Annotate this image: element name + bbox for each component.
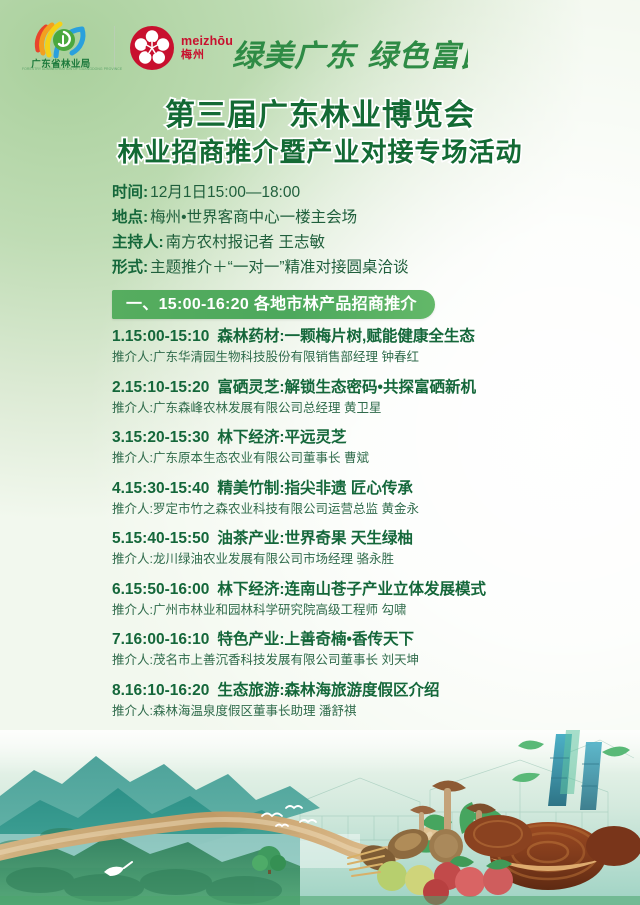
slogan-text: 绿美广东 绿色富民 — [232, 39, 468, 74]
poster-root: 广东省林业局 FORESTRY ADMINISTRATION OF GUANGD… — [0, 0, 640, 905]
agenda-item-presenter: 推介人:广东华清园生物科技股份有限销售部经理 钟春红 — [112, 348, 582, 367]
info-label-time: 时间: — [112, 180, 148, 202]
info-row-host: 主持人: 南方农村报记者 王志敏 — [112, 230, 542, 255]
agenda-item-number: 1.15:00-15:10 — [112, 328, 209, 345]
agenda-item-topic: 油茶产业:世界奇果 天生绿柚 — [217, 530, 412, 547]
agenda-item: 2.15:10-15:20富硒灵芝:解锁生态密码•共探富硒新机 推介人:广东森峰… — [112, 378, 582, 418]
agenda-item: 6.15:50-16:00林下经济:连南山苍子产业立体发展模式 推介人:广州市林… — [112, 580, 582, 620]
agenda-item: 1.15:00-15:10森林药材:一颗梅片树,赋能健康全生态 推介人:广东华清… — [112, 327, 582, 367]
info-label-format: 形式: — [112, 255, 148, 277]
page-title-line1: 第三届广东林业博览会 — [0, 99, 640, 133]
agenda-item-title: 5.15:40-15:50油茶产业:世界奇果 天生绿柚 — [112, 529, 582, 549]
info-row-venue: 地点: 梅州•世界客商中心一楼主会场 — [112, 205, 542, 230]
info-row-format: 形式: 主题推介＋“一对一”精准对接圆桌洽谈 — [112, 255, 542, 280]
meizhou-logo-en: meizhōu — [181, 35, 233, 48]
bottom-scenery-illustration — [0, 730, 640, 905]
meizhou-plum-blossom-icon — [129, 25, 175, 71]
agenda-item-title: 1.15:00-15:10森林药材:一颗梅片树,赋能健康全生态 — [112, 327, 582, 347]
info-label-host: 主持人: — [112, 230, 164, 252]
agenda-item-title: 6.15:50-16:00林下经济:连南山苍子产业立体发展模式 — [112, 580, 582, 600]
poster-header: 广东省林业局 FORESTRY ADMINISTRATION OF GUANGD… — [0, 0, 640, 92]
agenda-item-number: 5.15:40-15:50 — [112, 530, 209, 547]
meizhou-city-logo: meizhōu 梅州 — [129, 25, 233, 71]
agenda-item-topic: 生态旅游:森林海旅游度假区介绍 — [217, 682, 439, 699]
agenda-item-title: 7.16:00-16:10特色产业:上善奇楠•香传天下 — [112, 630, 582, 650]
agenda-item-topic: 富硒灵芝:解锁生态密码•共探富硒新机 — [217, 379, 476, 396]
agenda-item-title: 2.15:10-15:20富硒灵芝:解锁生态密码•共探富硒新机 — [112, 378, 582, 398]
agenda-list: 1.15:00-15:10森林药材:一颗梅片树,赋能健康全生态 推介人:广东华清… — [112, 327, 582, 731]
agenda-item: 4.15:30-15:40精美竹制:指尖非遗 匠心传承 推介人:罗定市竹之森农业… — [112, 479, 582, 519]
meizhou-logo-cn: 梅州 — [181, 50, 233, 61]
agenda-item: 8.16:10-16:20生态旅游:森林海旅游度假区介绍 推介人:森林海温泉度假… — [112, 681, 582, 721]
event-info-block: 时间: 12月1日15:00—18:00 地点: 梅州•世界客商中心一楼主会场 … — [112, 180, 542, 280]
logo-row: 广东省林业局 FORESTRY ADMINISTRATION OF GUANGD… — [22, 20, 233, 76]
logo-divider — [114, 26, 115, 70]
agenda-item-topic: 森林药材:一颗梅片树,赋能健康全生态 — [217, 328, 474, 345]
info-label-venue: 地点: — [112, 205, 148, 227]
page-title-line2: 林业招商推介暨产业对接专场活动 — [0, 136, 640, 168]
agenda-item-topic: 林下经济:连南山苍子产业立体发展模式 — [217, 581, 486, 598]
meizhou-logo-text: meizhōu 梅州 — [181, 35, 233, 61]
agenda-item-title: 8.16:10-16:20生态旅游:森林海旅游度假区介绍 — [112, 681, 582, 701]
agenda-item-number: 3.15:20-15:30 — [112, 429, 209, 446]
agenda-item-title: 3.15:20-15:30林下经济:平远灵芝 — [112, 428, 582, 448]
agenda-item-presenter: 推介人:广东原本生态农业有限公司董事长 曹斌 — [112, 449, 582, 468]
agenda-item-topic: 特色产业:上善奇楠•香传天下 — [217, 631, 414, 648]
slogan-calligraphy: 绿美广东 绿色富民 — [228, 30, 468, 80]
gd-logo-en-text: FORESTRY ADMINISTRATION OF GUANGDONG PRO… — [22, 67, 100, 71]
info-value-venue: 梅州•世界客商中心一楼主会场 — [150, 205, 357, 227]
agenda-item-presenter: 推介人:茂名市上善沉香科技发展有限公司董事长 刘天坤 — [112, 651, 582, 670]
agenda-item-number: 7.16:00-16:10 — [112, 631, 209, 648]
agenda-item-presenter: 推介人:广东森峰农林发展有限公司总经理 黄卫星 — [112, 399, 582, 418]
agenda-item-presenter: 推介人:广州市林业和园林科学研究院高级工程师 勾啸 — [112, 601, 582, 620]
agenda-item: 3.15:20-15:30林下经济:平远灵芝 推介人:广东原本生态农业有限公司董… — [112, 428, 582, 468]
agenda-item-presenter: 推介人:罗定市竹之森农业科技有限公司运营总监 黄金永 — [112, 500, 582, 519]
agenda-item-number: 8.16:10-16:20 — [112, 682, 209, 699]
agenda-item: 7.16:00-16:10特色产业:上善奇楠•香传天下 推介人:茂名市上善沉香科… — [112, 630, 582, 670]
guangdong-forestry-bureau-logo: 广东省林业局 FORESTRY ADMINISTRATION OF GUANGD… — [22, 20, 100, 76]
forestry-swoosh-icon — [32, 20, 90, 58]
scenery-svg — [0, 730, 640, 905]
agenda-item: 5.15:40-15:50油茶产业:世界奇果 天生绿柚 推介人:龙川绿油农业发展… — [112, 529, 582, 569]
info-value-format: 主题推介＋“一对一”精准对接圆桌洽谈 — [150, 255, 408, 277]
title-block: 第三届广东林业博览会 林业招商推介暨产业对接专场活动 — [0, 99, 640, 168]
info-row-time: 时间: 12月1日15:00—18:00 — [112, 180, 542, 205]
agenda-item-number: 2.15:10-15:20 — [112, 379, 209, 396]
agenda-item-number: 6.15:50-16:00 — [112, 581, 209, 598]
agenda-item-presenter: 推介人:龙川绿油农业发展有限公司市场经理 骆永胜 — [112, 550, 582, 569]
section-banner-1: 一、15:00-16:20 各地市林产品招商推介 — [112, 290, 435, 319]
info-value-time: 12月1日15:00—18:00 — [150, 180, 300, 202]
agenda-item-topic: 精美竹制:指尖非遗 匠心传承 — [217, 480, 412, 497]
agenda-item-title: 4.15:30-15:40精美竹制:指尖非遗 匠心传承 — [112, 479, 582, 499]
agenda-item-number: 4.15:30-15:40 — [112, 480, 209, 497]
agenda-item-presenter: 推介人:森林海温泉度假区董事长助理 潘舒祺 — [112, 702, 582, 721]
info-value-host: 南方农村报记者 王志敏 — [166, 230, 325, 252]
agenda-item-topic: 林下经济:平远灵芝 — [217, 429, 346, 446]
